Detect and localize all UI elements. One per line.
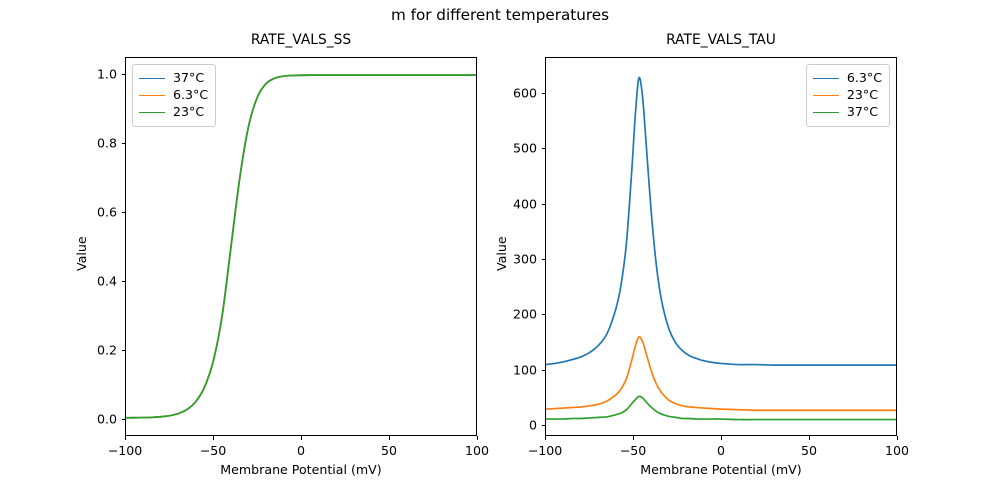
x-tick-label: 100 — [465, 443, 489, 458]
y-tick-label: 0 — [497, 417, 537, 432]
figure-suptitle: m for different temperatures — [0, 6, 1000, 24]
y-tick-label: 100 — [497, 362, 537, 377]
axes-title-right: RATE_VALS_TAU — [546, 32, 896, 48]
y-tick-label: 0.0 — [77, 411, 117, 426]
x-tick-label: 0 — [297, 443, 305, 458]
legend-entry[interactable]: 37°C — [139, 70, 208, 87]
x-tick-label: 50 — [801, 443, 817, 458]
x-tick-mark — [721, 436, 722, 440]
legend-entry[interactable]: 37°C — [813, 104, 882, 121]
y-tick-label: 0.2 — [77, 342, 117, 357]
y-tick-mark — [122, 143, 126, 144]
x-tick-label: 0 — [717, 443, 725, 458]
y-tick-label: 600 — [497, 85, 537, 100]
x-tick-mark — [897, 436, 898, 440]
x-tick-label: −100 — [528, 443, 563, 458]
x-tick-label: −100 — [108, 443, 143, 458]
y-tick-label: 200 — [497, 307, 537, 322]
xlabel-left: Membrane Potential (mV) — [125, 462, 477, 500]
x-tick-mark — [389, 436, 390, 440]
y-tick-mark — [122, 74, 126, 75]
y-tick-label: 0.8 — [77, 136, 117, 151]
y-tick-label: 500 — [497, 141, 537, 156]
axes-rate-vals-tau: RATE_VALS_TAU 6.3°C23°C37°C — [545, 57, 897, 436]
legend-label: 6.3°C — [847, 72, 882, 85]
y-tick-mark — [542, 314, 546, 315]
legend-left[interactable]: 37°C6.3°C23°C — [132, 64, 216, 127]
legend-entry[interactable]: 6.3°C — [813, 70, 882, 87]
x-tick-label: −50 — [200, 443, 227, 458]
x-tick-mark — [809, 436, 810, 440]
y-tick-label: 0.6 — [77, 205, 117, 220]
x-tick-label: 100 — [885, 443, 909, 458]
y-tick-mark — [542, 425, 546, 426]
legend-label: 37°C — [173, 72, 204, 85]
x-tick-mark — [213, 436, 214, 440]
legend-label: 23°C — [173, 106, 204, 119]
y-tick-label: 400 — [497, 196, 537, 211]
axes-title-left: RATE_VALS_SS — [126, 32, 476, 48]
y-tick-mark — [542, 148, 546, 149]
matplotlib-figure: m for different temperatures RATE_VALS_S… — [0, 0, 1000, 500]
y-tick-mark — [542, 204, 546, 205]
legend-label: 37°C — [847, 106, 878, 119]
series-line-37C — [546, 396, 896, 419]
y-tick-mark — [122, 419, 126, 420]
legend-entry[interactable]: 6.3°C — [139, 87, 208, 104]
x-tick-mark — [633, 436, 634, 440]
ylabel-left: Value — [74, 236, 89, 271]
xlabel-right: Membrane Potential (mV) — [545, 462, 897, 500]
legend-entry[interactable]: 23°C — [139, 104, 208, 121]
legend-label: 6.3°C — [173, 89, 208, 102]
x-tick-label: −50 — [620, 443, 647, 458]
y-tick-mark — [122, 212, 126, 213]
y-tick-mark — [542, 93, 546, 94]
y-tick-label: 1.0 — [77, 67, 117, 82]
y-tick-mark — [122, 281, 126, 282]
axes-rate-vals-ss: RATE_VALS_SS 37°C6.3°C23°C — [125, 57, 477, 436]
x-tick-mark — [545, 436, 546, 440]
ylabel-right: Value — [494, 236, 509, 271]
y-tick-label: 0.4 — [77, 273, 117, 288]
y-tick-mark — [542, 370, 546, 371]
x-tick-label: 50 — [381, 443, 397, 458]
legend-color-swatch — [139, 78, 165, 79]
legend-color-swatch — [813, 112, 839, 113]
x-tick-mark — [301, 436, 302, 440]
legend-entry[interactable]: 23°C — [813, 87, 882, 104]
legend-color-swatch — [139, 95, 165, 96]
legend-color-swatch — [813, 78, 839, 79]
x-tick-mark — [125, 436, 126, 440]
x-tick-mark — [477, 436, 478, 440]
y-tick-mark — [542, 259, 546, 260]
y-tick-mark — [122, 350, 126, 351]
legend-color-swatch — [813, 95, 839, 96]
legend-label: 23°C — [847, 89, 878, 102]
legend-right[interactable]: 6.3°C23°C37°C — [806, 64, 890, 127]
legend-color-swatch — [139, 112, 165, 113]
series-line-23C — [546, 337, 896, 410]
